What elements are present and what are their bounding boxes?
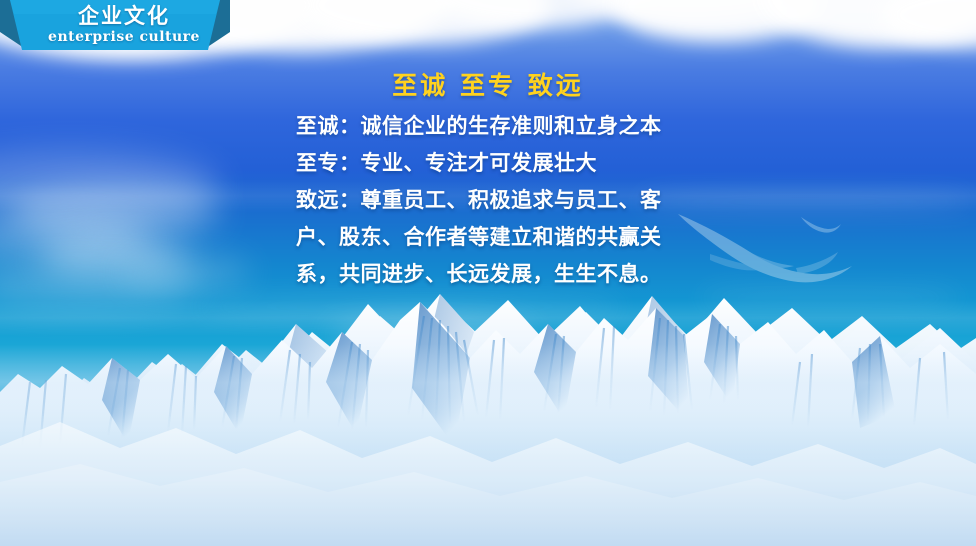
culture-banner-image: 企业文化 enterprise culture 至诚 至专 致远 至诚：诚信企业… xyxy=(0,0,976,546)
mountain-ridge-front xyxy=(0,296,976,546)
culture-line: 户、股东、合作者等建立和谐的共赢关 xyxy=(296,219,696,256)
culture-line: 至诚：诚信企业的生存准则和立身之本 xyxy=(296,108,696,145)
enterprise-culture-ribbon: 企业文化 enterprise culture xyxy=(0,0,230,50)
culture-line: 至专：专业、专注才可发展壮大 xyxy=(296,145,696,182)
ribbon-title-en: enterprise culture xyxy=(48,30,200,44)
page-headline: 至诚 至专 致远 xyxy=(0,66,976,102)
distant-bird-icon xyxy=(800,214,842,236)
culture-line: 系，共同进步、长远发展，生生不息。 xyxy=(296,256,696,293)
culture-line: 致远：尊重员工、积极追求与员工、客 xyxy=(296,182,696,219)
ribbon-title-cn: 企业文化 xyxy=(78,6,170,27)
culture-statement-block: 至诚：诚信企业的生存准则和立身之本 至专：专业、专注才可发展壮大 致远：尊重员工… xyxy=(296,108,696,293)
